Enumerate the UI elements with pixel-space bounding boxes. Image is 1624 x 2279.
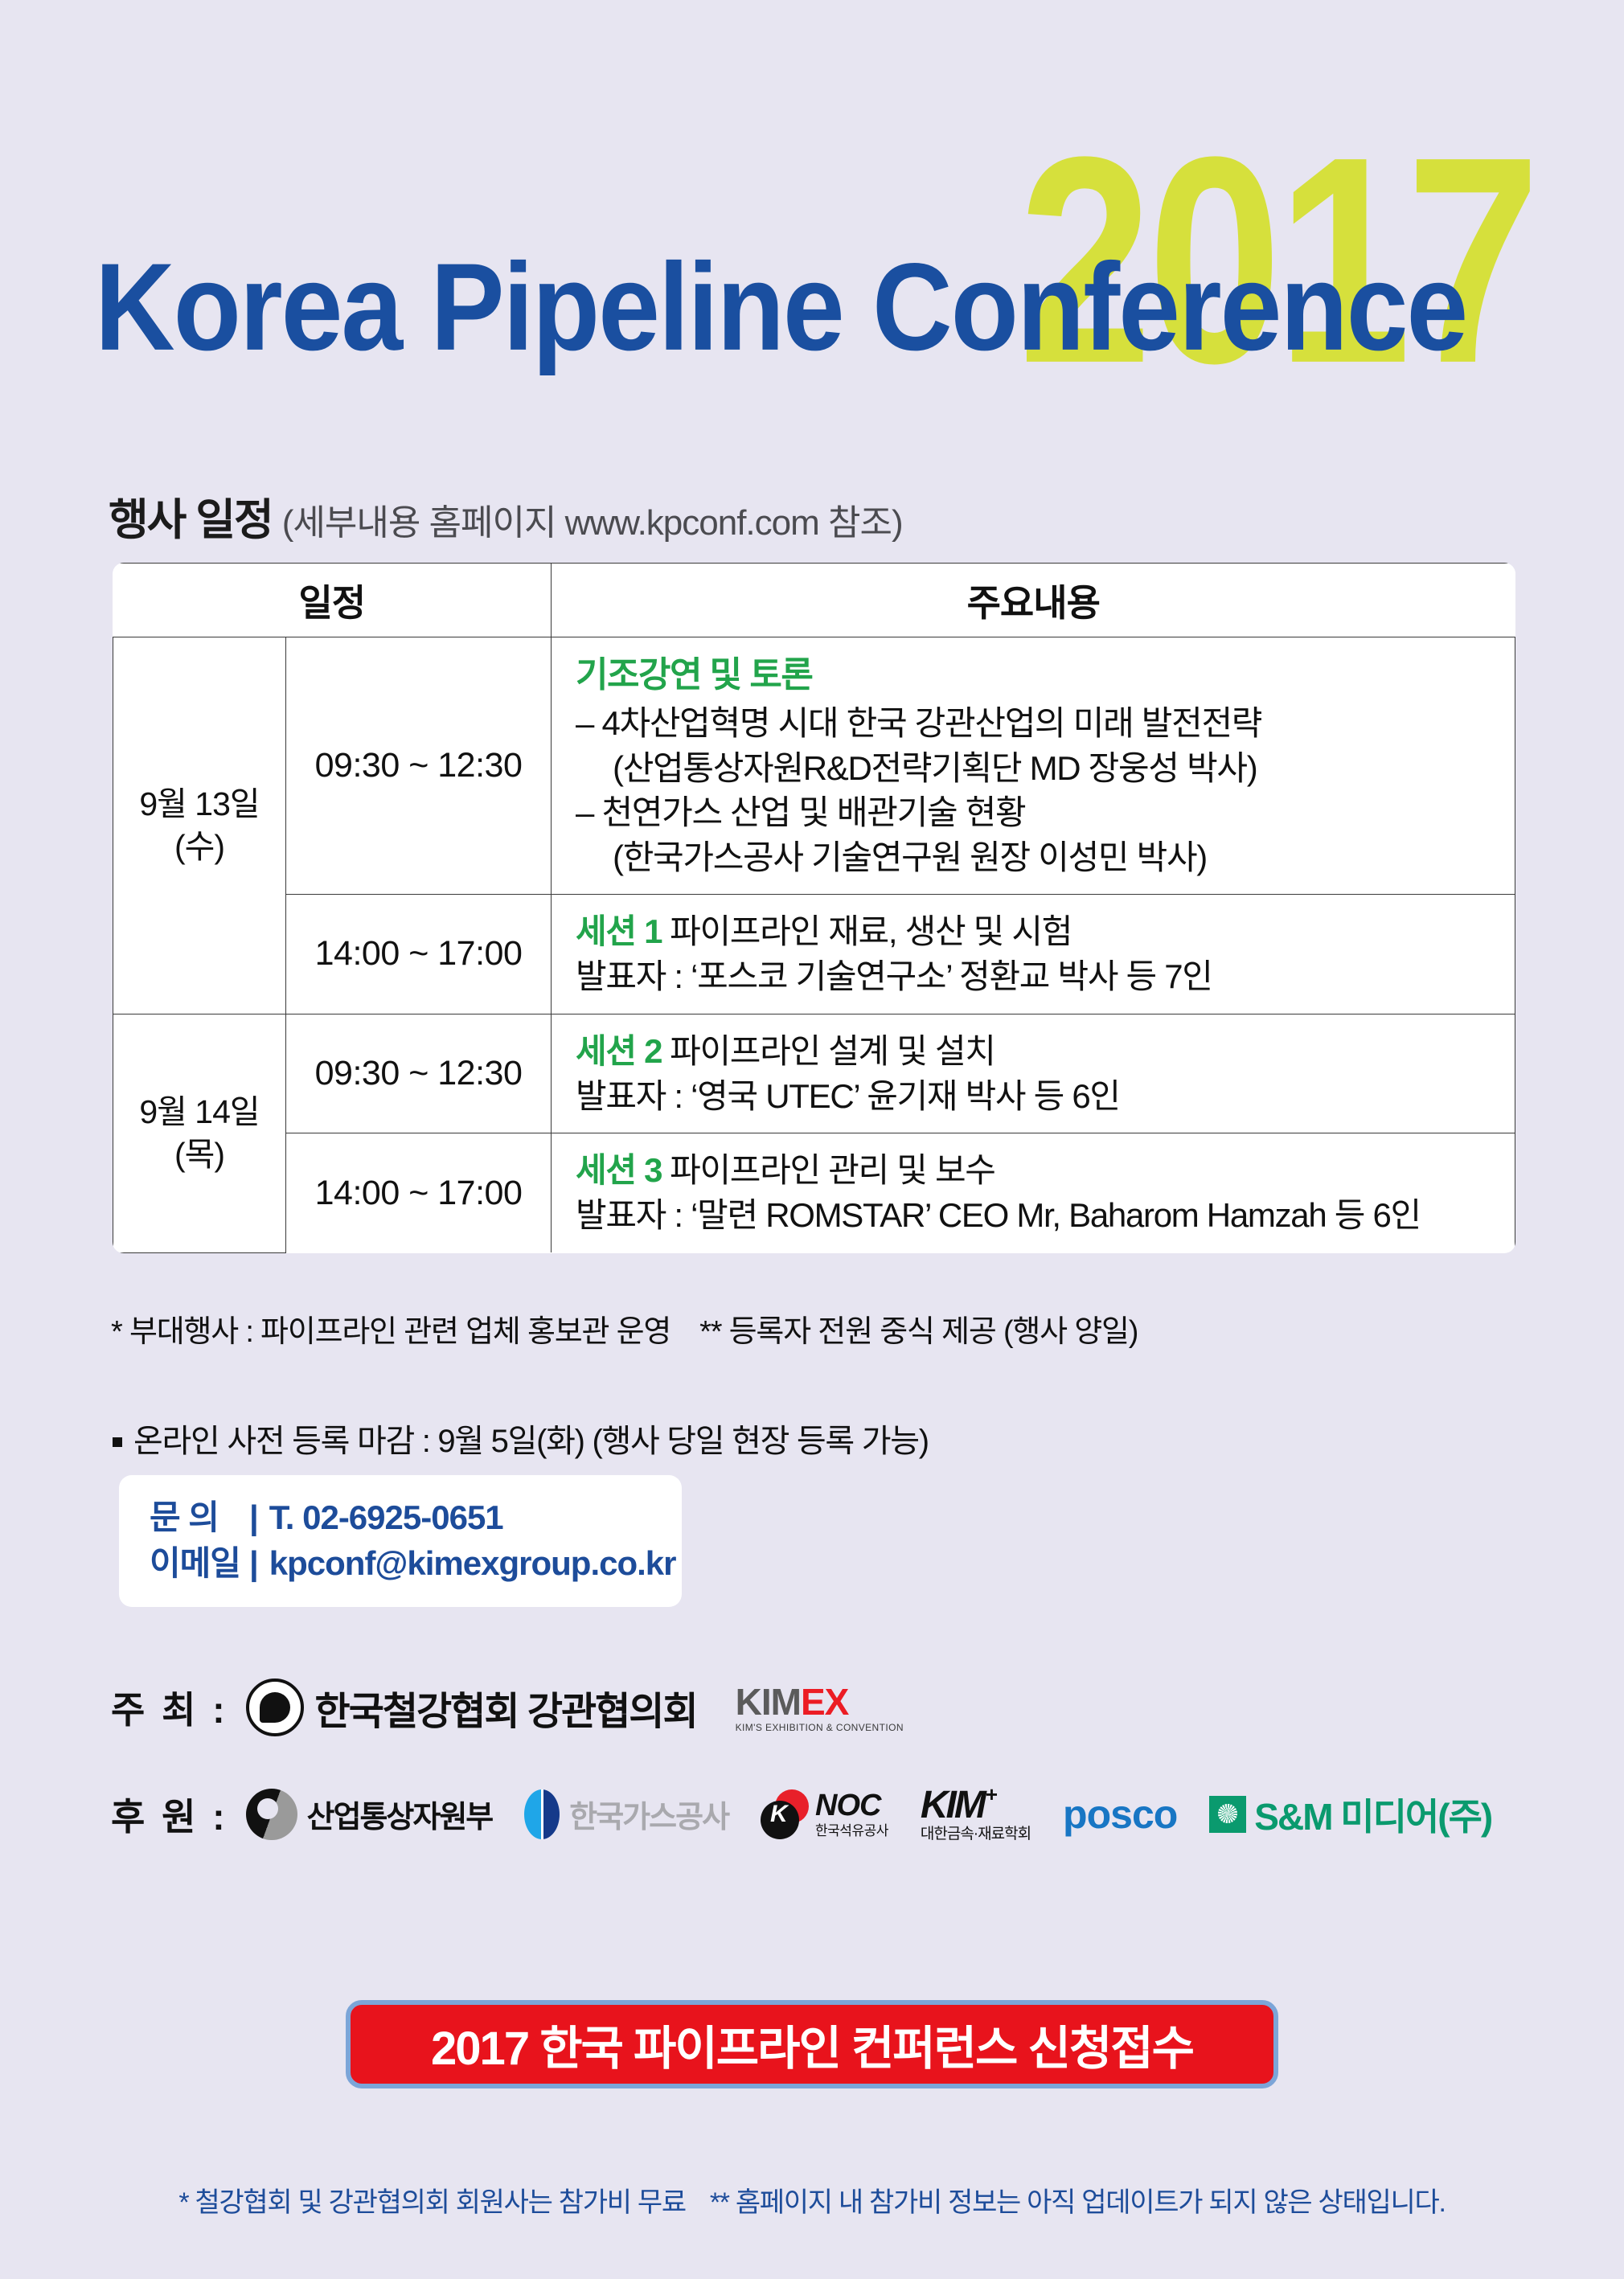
sponsor-logo-knoc: K NOC 한국석유공사 [761, 1789, 888, 1839]
time-cell: 14:00 ~ 17:00 [286, 1133, 552, 1252]
contact-box: 문 의|T. 02-6925-0651 이메일|kpconf@kimexgrou… [119, 1475, 682, 1607]
dow-label: (수) [113, 826, 285, 867]
keynote-line-4: (한국가스공사 기술연구원 원장 이성민 박사) [576, 835, 1515, 879]
time-cell: 09:30 ~ 12:30 [286, 637, 552, 895]
session-presenter: 발표자 : ‘영국 UTEC’ 윤기재 박사 등 6인 [576, 1074, 1515, 1119]
sm-media-mark-icon [1209, 1796, 1246, 1833]
session-title-row: 세션 2파이프라인 설계 및 설치 [576, 1029, 1515, 1074]
contact-email-value[interactable]: kpconf@kimexgroup.co.kr [269, 1544, 676, 1582]
square-bullet-icon [113, 1437, 122, 1447]
organizer-label: 주 최 : [111, 1681, 228, 1734]
contact-phone-value[interactable]: T. 02-6925-0651 [269, 1498, 503, 1536]
date-cell-day1: 9월 13일 (수) [113, 637, 286, 1014]
registration-deadline-text: 온라인 사전 등록 마감 : 9월 5일(화) (행사 당일 현장 등록 가능) [133, 1424, 929, 1459]
footer-notes: * 철강협회 및 강관협의회 회원사는 참가비 무료** 홈페이지 내 참가비 … [0, 2180, 1624, 2220]
taegeuk-icon [246, 1789, 297, 1840]
registration-cta-button[interactable]: 2017 한국 파이프라인 컨퍼런스 신청접수 [346, 2000, 1278, 2088]
sponsor-name: KIM [921, 1784, 984, 1826]
registration-deadline: 온라인 사전 등록 마감 : 9월 5일(화) (행사 당일 현장 등록 가능) [113, 1415, 929, 1461]
table-row: 9월 14일 (목) 09:30 ~ 12:30 세션 2파이프라인 설계 및 … [113, 1014, 1515, 1133]
knoc-wordmark: NOC 한국석유공사 [815, 1790, 888, 1838]
sponsor-name: 산업통상자원부 [307, 1792, 493, 1836]
page-title: Korea Pipeline Conference [95, 245, 1466, 370]
detail-cell-keynote: 기조강연 및 토론 – 4차산업혁명 시대 한국 강관산업의 미래 발전전략 (… [552, 637, 1515, 895]
dow-label: (목) [113, 1133, 285, 1175]
time-cell: 09:30 ~ 12:30 [286, 1014, 552, 1133]
footer-note-free: * 철강협회 및 강관협의회 회원사는 참가비 무료 [178, 2187, 685, 2218]
sponsor-name: 한국가스공사 [569, 1792, 728, 1836]
column-header-content: 주요내용 [552, 564, 1515, 637]
keynote-line-2: (산업통상자원R&D전략기획단 MD 장웅성 박사) [576, 746, 1515, 790]
session-topic: 파이프라인 설계 및 설치 [670, 1032, 995, 1070]
detail-cell-session2: 세션 2파이프라인 설계 및 설치 발표자 : ‘영국 UTEC’ 윤기재 박사… [552, 1014, 1515, 1133]
table-row: 9월 13일 (수) 09:30 ~ 12:30 기조강연 및 토론 – 4차산… [113, 637, 1515, 895]
session-topic: 파이프라인 재료, 생산 및 시험 [670, 912, 1072, 950]
session-presenter: 발표자 : ‘포스코 기술연구소’ 정환교 박사 등 7인 [576, 954, 1515, 999]
kimex-tagline: KIM'S EXHIBITION & CONVENTION [736, 1723, 904, 1732]
keynote-line-1: – 4차산업혁명 시대 한국 강관산업의 미래 발전전략 [576, 701, 1515, 745]
keynote-line-3: – 천연가스 산업 및 배관기술 현황 [576, 790, 1515, 834]
sponsor-name: NOC [815, 1790, 888, 1822]
sponsor-label: 후 원 : [111, 1788, 228, 1841]
poster-root: 2017 Korea Pipeline Conference 행사 일정 (세부… [0, 0, 1624, 2279]
organizer-row: 주 최 : 한국철강협회 강관협의회 KIMEX KIM'S EXHIBITIO… [111, 1679, 904, 1736]
sponsor-logo-motie: 산업통상자원부 [246, 1789, 493, 1840]
kimex-part-kim: KIM [736, 1681, 801, 1723]
date-label: 9월 14일 [113, 1091, 285, 1133]
kimex-part-ex: EX [801, 1681, 848, 1723]
time-cell: 14:00 ~ 17:00 [286, 894, 552, 1014]
kim-wordmark: KIM+ [921, 1786, 1031, 1825]
keynote-label: 기조강연 및 토론 [576, 652, 1515, 698]
session-label: 세션 3 [576, 1151, 662, 1189]
kogas-mark-icon [524, 1789, 560, 1839]
sponsor-name: S&M 미디어(주) [1254, 1788, 1491, 1841]
registration-cta-label: 2017 한국 파이프라인 컨퍼런스 신청접수 [431, 2011, 1193, 2078]
schedule-heading-strong: 행사 일정 [109, 484, 273, 547]
footer-note-update: ** 홈페이지 내 참가비 정보는 아직 업데이트가 되지 않은 상태입니다. [710, 2187, 1446, 2218]
contact-phone-row: 문 의|T. 02-6925-0651 [150, 1494, 682, 1540]
sponsor-name-sub: 한국석유공사 [815, 1824, 888, 1838]
table-row: 14:00 ~ 17:00 세션 1파이프라인 재료, 생산 및 시험 발표자 … [113, 894, 1515, 1014]
footnote-lunch: ** 등록자 전원 중식 제공 (행사 양일) [699, 1315, 1138, 1349]
session-title-row: 세션 1파이프라인 재료, 생산 및 시험 [576, 909, 1515, 954]
table-row: 14:00 ~ 17:00 세션 3파이프라인 관리 및 보수 발표자 : ‘말… [113, 1133, 1515, 1252]
schedule-heading-sub: (세부내용 홈페이지 www.kpconf.com 참조) [282, 494, 903, 545]
schedule-heading: 행사 일정 (세부내용 홈페이지 www.kpconf.com 참조) [109, 484, 903, 547]
footnote-side-events: * 부대행사 : 파이프라인 관련 업체 홍보관 운영 [111, 1315, 671, 1349]
date-label: 9월 13일 [113, 783, 285, 825]
session-label: 세션 1 [576, 912, 662, 950]
contact-separator: | [249, 1544, 258, 1582]
contact-separator: | [249, 1498, 258, 1536]
sponsor-logo-posco: posco [1063, 1791, 1177, 1838]
schedule-table: 일정 주요내용 9월 13일 (수) 09:30 ~ 12:30 기조강연 및 … [113, 563, 1515, 1253]
column-header-schedule: 일정 [113, 564, 552, 637]
sponsor-name-sub: 대한금속·재료학회 [921, 1826, 1031, 1842]
contact-email-row: 이메일|kpconf@kimexgroup.co.kr [150, 1540, 682, 1586]
contact-email-label: 이메일 [150, 1540, 244, 1586]
session-label: 세션 2 [576, 1032, 662, 1070]
plus-icon: + [986, 1782, 995, 1806]
sponsor-logo-kogas: 한국가스공사 [524, 1789, 728, 1839]
knoc-mark-icon: K [761, 1789, 810, 1839]
table-footnotes: * 부대행사 : 파이프라인 관련 업체 홍보관 운영** 등록자 전원 중식 … [111, 1306, 1138, 1351]
contact-phone-label: 문 의 [150, 1494, 244, 1540]
sponsor-logo-kim: KIM+ 대한금속·재료학회 [921, 1786, 1031, 1842]
title-block: 2017 Korea Pipeline Conference [0, 105, 1624, 410]
sponsor-logo-sm-media: S&M 미디어(주) [1209, 1788, 1491, 1841]
detail-cell-session1: 세션 1파이프라인 재료, 생산 및 시험 발표자 : ‘포스코 기술연구소’ … [552, 894, 1515, 1014]
session-title-row: 세션 3파이프라인 관리 및 보수 [576, 1148, 1515, 1193]
kimex-wordmark: KIMEX [736, 1681, 849, 1723]
kisa-seal-icon [246, 1679, 304, 1736]
organizer-name: 한국철강협회 강관협의회 [315, 1679, 697, 1736]
detail-cell-session3: 세션 3파이프라인 관리 및 보수 발표자 : ‘말련 ROMSTAR’ CEO… [552, 1133, 1515, 1252]
session-presenter: 발표자 : ‘말련 ROMSTAR’ CEO Mr, Baharom Hamza… [576, 1193, 1515, 1238]
schedule-table-wrapper: 일정 주요내용 9월 13일 (수) 09:30 ~ 12:30 기조강연 및 … [113, 563, 1515, 1253]
table-header-row: 일정 주요내용 [113, 564, 1515, 637]
date-cell-day2: 9월 14일 (목) [113, 1014, 286, 1252]
session-topic: 파이프라인 관리 및 보수 [670, 1151, 995, 1189]
kimex-logo: KIMEX KIM'S EXHIBITION & CONVENTION [736, 1683, 904, 1732]
sponsor-row: 후 원 : 산업통상자원부 한국가스공사 K NOC 한국석유공사 KIM+ 대… [111, 1786, 1524, 1842]
